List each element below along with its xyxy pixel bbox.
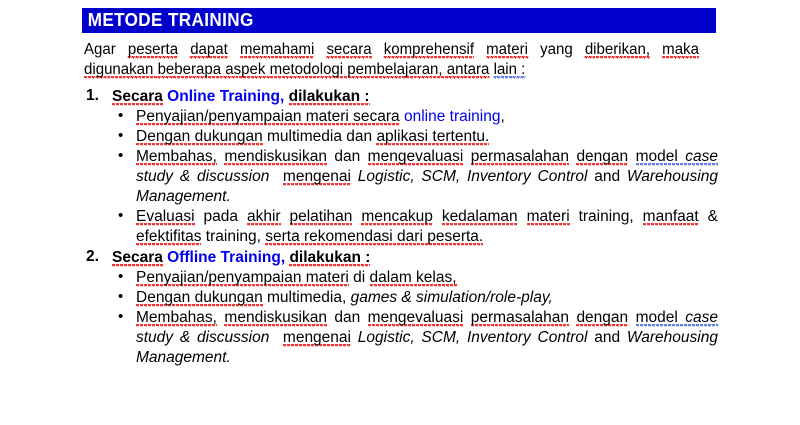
- accent-online-training: online training: [404, 108, 501, 125]
- heading-suffix-offline: dilakukan :: [289, 249, 370, 267]
- intro-paragraph: Agar peserta dapat memahami secara kompr…: [84, 40, 699, 80]
- list-item: Evaluasi pada akhir pelatihan mencakup k…: [112, 207, 718, 247]
- heading-prefix-online: Secara: [112, 88, 163, 106]
- heading-accent-offline: Offline Training,: [167, 249, 285, 266]
- slide-page: METODE TRAINING Agar peserta dapat memah…: [0, 0, 800, 425]
- method-heading-offline: Secara Offline Training, dilakukan :: [112, 247, 718, 268]
- list-item: Penyajian/penyampaian materi di dalam ke…: [112, 268, 718, 288]
- page-title: METODE TRAINING: [82, 10, 254, 31]
- list-item: Dengan dukungan multimedia, games & simu…: [112, 288, 718, 308]
- heading-prefix-offline: Secara: [112, 249, 163, 267]
- offline-bullet-list: Penyajian/penyampaian materi di dalam ke…: [112, 268, 718, 368]
- method-list: Secara Online Training, dilakukan : Peny…: [84, 86, 718, 368]
- list-item: Membahas, mendiskusikan dan mengevaluasi…: [112, 308, 718, 368]
- list-item: Penyajian/penyampaian materi secara onli…: [112, 107, 718, 127]
- list-item: Membahas, mendiskusikan dan mengevaluasi…: [112, 147, 718, 207]
- intro-line-1: Agar peserta dapat memahami secara kompr…: [84, 41, 699, 59]
- list-item: Dengan dukungan multimedia dan aplikasi …: [112, 127, 718, 147]
- method-heading-online: Secara Online Training, dilakukan :: [112, 86, 718, 107]
- heading-accent-online: Online Training,: [167, 88, 284, 105]
- online-bullet-list: Penyajian/penyampaian materi secara onli…: [112, 107, 718, 247]
- method-item-offline: Secara Offline Training, dilakukan : Pen…: [84, 247, 718, 368]
- slide-body: Agar peserta dapat memahami secara kompr…: [84, 40, 718, 368]
- page-title-bar: METODE TRAINING: [82, 8, 716, 33]
- intro-line-2: digunakan beberapa aspek metodologi pemb…: [84, 61, 525, 79]
- method-item-online: Secara Online Training, dilakukan : Peny…: [84, 86, 718, 247]
- heading-suffix-online: dilakukan :: [289, 88, 370, 106]
